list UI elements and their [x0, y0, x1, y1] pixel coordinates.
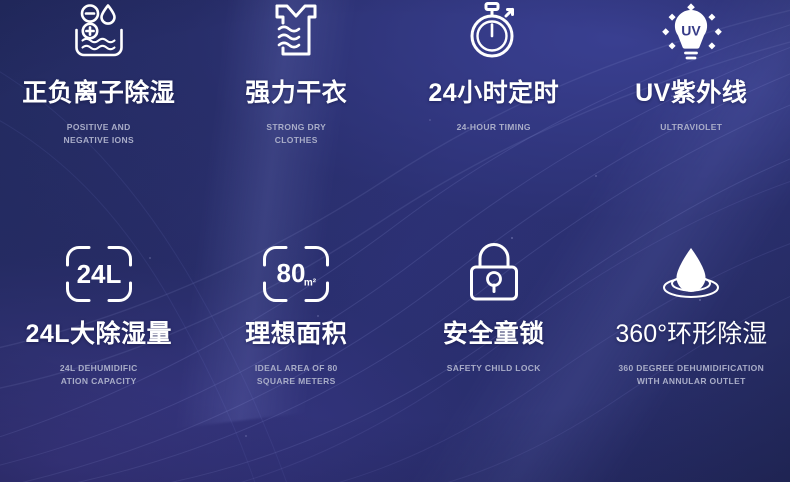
feature-card-child-lock: 安全童锁 SAFETY CHILD LOCK — [395, 241, 593, 482]
padlock-child-lock-icon — [466, 241, 522, 303]
feature-card-dry-clothes: 强力干衣 STRONG DRY CLOTHES — [198, 0, 396, 241]
feature-caption: IDEAL AREA OF 80 SQUARE METERS — [255, 362, 338, 388]
feature-panel: 正负离子除湿 POSITIVE AND NEGATIVE IONS 强力干衣 S… — [0, 0, 790, 482]
feature-caption: 24-HOUR TIMING — [457, 121, 531, 134]
feature-title: 安全童锁 — [443, 322, 545, 347]
feature-card-360-dehumidify: 360°环形除湿 360 DEGREE DEHUMIDIFICATION WIT… — [593, 241, 790, 482]
capacity-24l-icon: 24L — [65, 241, 133, 303]
water-droplet-ripple-icon — [656, 241, 726, 303]
stopwatch-timer-icon — [465, 0, 523, 62]
feature-card-area: 80 m² 理想面积 IDEAL AREA OF 80 SQUARE METER… — [198, 241, 396, 482]
feature-title: 理想面积 — [245, 322, 347, 347]
icon-unit-text: m² — [304, 278, 317, 289]
feature-caption: 360 DEGREE DEHUMIDIFICATION WITH ANNULAR… — [618, 362, 764, 388]
icon-value-text: 24L — [76, 259, 121, 289]
icon-value-text: 80 — [277, 258, 306, 288]
feature-grid: 正负离子除湿 POSITIVE AND NEGATIVE IONS 强力干衣 S… — [0, 0, 790, 482]
feature-title: 正负离子除湿 — [22, 81, 175, 106]
feature-title: 360°环形除湿 — [615, 322, 767, 347]
feature-caption: POSITIVE AND NEGATIVE IONS — [63, 121, 134, 147]
feature-card-timer: 24小时定时 24-HOUR TIMING — [395, 0, 593, 241]
feature-title: 24小时定时 — [428, 81, 559, 106]
feature-title: UV紫外线 — [635, 81, 747, 106]
feature-title: 强力干衣 — [245, 81, 347, 106]
dry-clothes-shirt-icon — [265, 0, 327, 62]
feature-caption: 24L DEHUMIDIFIC ATION CAPACITY — [60, 362, 138, 388]
feature-card-ion-dehumidify: 正负离子除湿 POSITIVE AND NEGATIVE IONS — [0, 0, 198, 241]
feature-caption: SAFETY CHILD LOCK — [447, 362, 541, 375]
uv-lightbulb-icon: UV — [660, 0, 722, 62]
feature-caption: ULTRAVIOLET — [660, 121, 722, 134]
feature-card-capacity: 24L 24L大除湿量 24L DEHUMIDIFIC ATION CAPACI… — [0, 241, 198, 482]
ion-dehumidify-icon — [68, 0, 130, 62]
feature-title: 24L大除湿量 — [25, 322, 172, 347]
feature-caption: STRONG DRY CLOTHES — [266, 121, 326, 147]
area-80-square-meters-icon: 80 m² — [262, 241, 330, 303]
feature-card-uv: UV — [593, 0, 790, 241]
